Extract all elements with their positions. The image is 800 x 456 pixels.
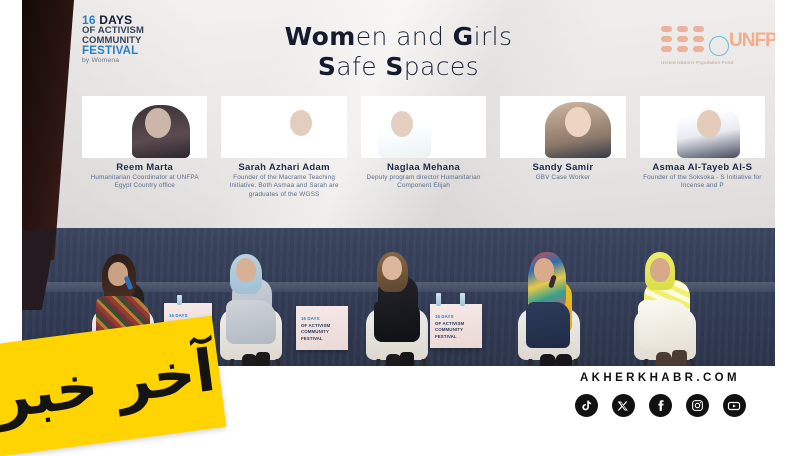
event-photograph: 16 DAYS OF ACTIVISM COMMUNITY FESTIVAL b…: [22, 0, 775, 366]
cube-logo-line3: COMMUNITY: [301, 329, 329, 334]
facebook-icon[interactable]: [649, 394, 672, 417]
speaker-card: Reem Marta Humanitarian Coordinator at U…: [82, 96, 207, 199]
speaker-photo-naglaa-mehana: Wome refug: [361, 96, 486, 158]
headline-part-2: en and: [356, 22, 453, 51]
speaker-photo-sandy-samir: [500, 96, 625, 158]
cube-logo-line2: OF ACTIVISM: [435, 321, 464, 326]
cube-logo-line1: 16 DAYS: [435, 314, 454, 319]
cube-logo-line4: FESTIVAL: [435, 334, 457, 339]
speaker-card: Asmaa Al-Tayeb Al-S Founder of the Sokso…: [640, 96, 765, 199]
speaker-card: Sandy Samir GBV Case Worker: [500, 96, 625, 199]
unfpa-caption: United Nations Population Fund: [661, 60, 733, 65]
cube-logo-line1: 16 DAYS: [301, 316, 320, 321]
speaker-photo-sarah-azhari-adam: [221, 96, 346, 158]
tiktok-icon[interactable]: [575, 394, 598, 417]
water-bottle: [177, 295, 182, 305]
speaker-card: Sarah Azhari Adam Founder of the Macrame…: [221, 96, 346, 199]
cube-logo-line1: 16 DAYS: [169, 313, 188, 318]
headline-part-6: afe: [336, 52, 385, 81]
branded-cube-table: 16 DAYS OF ACTIVISM COMMUNITY FESTIVAL: [296, 306, 348, 350]
speaker-name: Sandy Samir: [500, 162, 625, 173]
watermark-arabic-text: آخر خبر: [0, 341, 218, 427]
speaker-role: Founder of the Soksoka - S Initiative fo…: [640, 174, 765, 191]
footer: AKHERKHABR.COM: [520, 372, 800, 417]
panelist-seated-5: [620, 216, 720, 366]
water-bottle: [436, 293, 441, 306]
website-url: AKHERKHABR.COM: [520, 372, 800, 384]
speaker-card: Wome refug Naglaa Mehana Deputy program …: [361, 96, 486, 199]
x-twitter-icon[interactable]: [612, 394, 635, 417]
panelist-seated-4: [506, 214, 602, 366]
speaker-role: Deputy program director Humanitarian Com…: [361, 174, 486, 191]
headline-part-1: Wom: [285, 22, 356, 51]
youtube-icon[interactable]: [723, 394, 746, 417]
speaker-role: Humanitarian Coordinator at UNFPA Egypt …: [82, 174, 207, 191]
speaker-photo-asmaa-al-tayeb: [640, 96, 765, 158]
speaker-name: Sarah Azhari Adam: [221, 162, 346, 173]
instagram-icon[interactable]: [686, 394, 709, 417]
cube-logo-line4: FESTIVAL: [301, 336, 323, 341]
unfpa-wordmark: UNFPA: [729, 30, 775, 52]
panelist-seated-2: [208, 216, 300, 366]
water-bottle: [460, 293, 465, 306]
unfpa-logo: UNFPA United Nations Population Fund: [661, 26, 753, 70]
headline-part-8: paces: [404, 52, 479, 81]
speaker-name: Asmaa Al-Tayeb Al-S: [640, 162, 765, 173]
cube-logo-line2: OF ACTIVISM: [301, 323, 330, 328]
un-emblem-icon: [709, 36, 729, 56]
headline-part-4: irls: [474, 22, 513, 51]
branded-cube-table: 16 DAYS OF ACTIVISM COMMUNITY FESTIVAL: [430, 304, 482, 348]
headline-part-7: S: [385, 52, 403, 81]
social-links: [520, 394, 800, 417]
photo-overlay-text: Wome refug: [450, 106, 483, 114]
speaker-card-list: Reem Marta Humanitarian Coordinator at U…: [82, 96, 765, 199]
speaker-photo-reem-marta: [82, 96, 207, 158]
cube-logo-line3: COMMUNITY: [435, 327, 463, 332]
speaker-name: Reem Marta: [82, 162, 207, 173]
news-image-card: 16 DAYS OF ACTIVISM COMMUNITY FESTIVAL b…: [0, 0, 800, 450]
headline-part-5: S: [318, 52, 336, 81]
headline-part-3: G: [453, 22, 474, 51]
speaker-role: GBV Case Worker: [500, 174, 625, 182]
speaker-name: Naglaa Mehana: [361, 162, 486, 173]
